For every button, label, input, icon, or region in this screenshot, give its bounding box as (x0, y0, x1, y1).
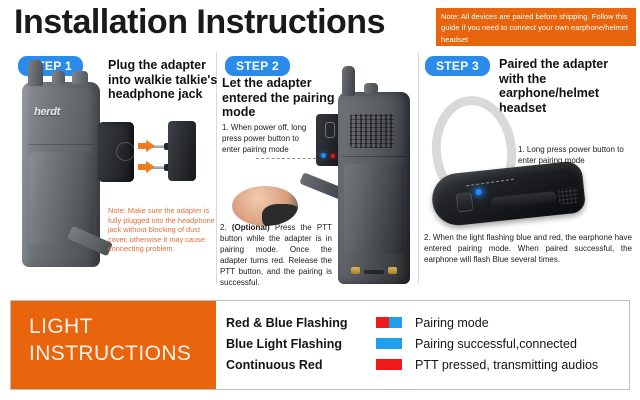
step-2-item-2: 2. (Optional) Press the PTT button while… (220, 222, 332, 288)
legend-meaning-0: Pairing mode (415, 316, 489, 330)
insert-arrow-head-2 (146, 161, 155, 173)
legend-swatch-0-color-0 (376, 317, 389, 328)
insert-arrow-shaft-1 (138, 143, 146, 149)
walkie-talkie-image-step2 (338, 92, 410, 284)
light-instructions-panel: LIGHT INSTRUCTIONS Red & Blue Flashing P… (10, 300, 630, 390)
radio-seam (28, 144, 94, 145)
knob-icon-step2 (364, 83, 378, 94)
hand-pressing-ptt-image (232, 186, 298, 226)
legend-row: Red & Blue Flashing Pairing mode (226, 312, 598, 333)
adapter-blue-led-icon (321, 153, 326, 158)
radio-bottom-port (364, 270, 384, 274)
step-2-optional-label: (Optional) (232, 223, 270, 232)
charging-contact-left (351, 267, 360, 274)
legend-state-0: Red & Blue Flashing (226, 316, 376, 330)
radio-brand-label: herdt (34, 106, 60, 118)
earphone-mic-mesh-icon (558, 187, 580, 205)
light-legend: Red & Blue Flashing Pairing mode Blue Li… (226, 312, 598, 375)
legend-swatch-0 (376, 317, 402, 328)
legend-state-2: Continuous Red (226, 358, 376, 372)
step-2-badge: STEP 2 (225, 56, 290, 76)
step-1-warning-note: Note: Make sure the adapter is fully plu… (108, 206, 216, 254)
legend-swatch-2 (376, 359, 402, 370)
step-2-item-1: 1. When power off, long press power butt… (222, 122, 314, 155)
walkie-talkie-image-step1: herdt (22, 82, 100, 267)
legend-swatch-2-color-1 (389, 359, 402, 370)
speaker-grill-icon (350, 114, 394, 148)
step-2-item-2-text: Press the PTT button while the adapter i… (220, 223, 332, 287)
headphone-plug-image (168, 121, 196, 181)
legend-swatch-0-color-1 (389, 317, 402, 328)
legend-meaning-1: Pairing successful,connected (415, 337, 577, 351)
power-button-icon (456, 192, 474, 213)
callout-leader-step2 (256, 158, 316, 159)
radio-lower-panel-step2 (344, 164, 404, 254)
volume-knob-icon (72, 71, 88, 84)
legend-meaning-2: PTT pressed, transmitting audios (415, 358, 598, 372)
channel-knob-icon (52, 71, 65, 84)
adapter-dial-icon (116, 142, 135, 161)
light-instructions-heading: LIGHT INSTRUCTIONS (11, 301, 216, 389)
legend-swatch-1 (376, 338, 402, 349)
earphone-blue-led-icon (475, 189, 482, 196)
legend-row: Continuous Red PTT pressed, transmitting… (226, 354, 598, 375)
page-title: Installation Instructions (14, 2, 385, 42)
step-3-item-2: 2. When the light flashing blue and red,… (424, 232, 632, 265)
legend-state-1: Blue Light Flashing (226, 337, 376, 351)
step-1-title: Plug the adapter into walkie talkie's he… (108, 58, 228, 102)
antenna-icon (28, 60, 43, 86)
earphone-side-strip (490, 191, 557, 209)
legend-swatch-1-color-1 (389, 338, 402, 349)
column-divider-2 (418, 52, 419, 284)
adapter-red-led-icon (331, 154, 335, 158)
step-2-item-2-number: 2. (220, 223, 227, 232)
installation-instructions-poster: Installation Instructions Note: All devi… (0, 0, 640, 400)
radio-seam-step2 (342, 156, 406, 157)
legend-swatch-1-color-0 (376, 338, 389, 349)
step-3-badge: STEP 3 (425, 56, 490, 76)
legend-row: Blue Light Flashing Pairing successful,c… (226, 333, 598, 354)
step-3-title: Paired the adapter with the earphone/hel… (499, 57, 617, 115)
adapter-port-icon (325, 122, 335, 138)
legend-swatch-2-color-0 (376, 359, 389, 370)
light-instructions-heading-line2: INSTRUCTIONS (29, 340, 216, 367)
adapter-image-step1 (98, 122, 134, 182)
light-instructions-heading-line1: LIGHT (29, 313, 216, 340)
insert-arrow-shaft-2 (138, 164, 146, 170)
charging-contact-right (388, 267, 397, 274)
step-3-item-1: 1. Long press power button to enter pair… (518, 144, 630, 166)
shipping-note-banner: Note: All devices are paired before ship… (436, 8, 636, 46)
antenna-icon-step2 (342, 66, 355, 96)
insert-arrow-head-1 (146, 140, 155, 152)
